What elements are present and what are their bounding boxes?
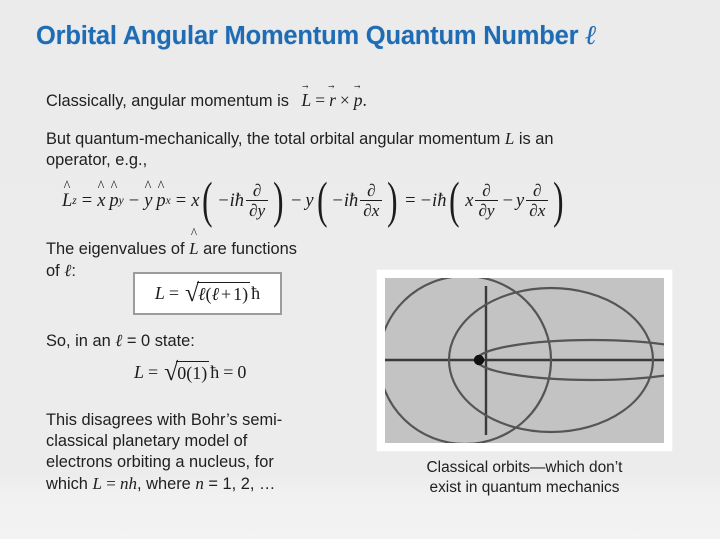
quantum-operator-paragraph: But quantum-mechanically, the total orbi… <box>46 128 676 171</box>
L-hat-inline-symbol: L <box>189 238 198 259</box>
quantum-paragraph-line1: But quantum-mechanically, the total orbi… <box>46 128 676 150</box>
classical-definition-line: Classically, angular momentum is L = r ×… <box>46 90 367 112</box>
L-hat-symbol: L <box>62 191 72 212</box>
bohr-line-2: classical planetary model of <box>46 431 366 452</box>
slide-canvas: Orbital Angular Momentum Quantum Number … <box>0 0 720 539</box>
y-variable-2: y <box>516 191 524 212</box>
L-z-subscript: z <box>72 195 76 207</box>
L-italic-symbol: L <box>505 129 514 148</box>
equals-sign-zero-2: = <box>223 362 233 383</box>
partial-numerator-4: ∂ <box>530 182 545 201</box>
radicand-plus-sign: + <box>221 284 231 304</box>
cross-product-sign: × <box>340 90 350 111</box>
zero-result-value: 0 <box>237 362 246 383</box>
eigenvalues-line1: The eigenvalues of L are functions <box>46 238 346 260</box>
bohr-line-1: This disagrees with Bohr’s semi- <box>46 410 366 431</box>
quantum-paragraph-line2: operator, e.g., <box>46 150 676 171</box>
figure-caption-line-2: exist in quantum mechanics <box>377 478 672 498</box>
minus-i-hbar-3: −iħ <box>420 191 447 212</box>
y-hat-symbol: y <box>144 191 152 212</box>
partial-derivative-y-1: ∂ ∂y <box>246 182 268 220</box>
p-hat-symbol-1: p <box>109 191 118 212</box>
minus-sign-3: − <box>503 191 513 212</box>
L-symbol-zero-state: L <box>134 362 144 383</box>
ell-symbol-radicand-1: ℓ <box>198 284 206 304</box>
equals-sign: = <box>315 90 325 111</box>
eigenvalues-colon: : <box>71 262 76 280</box>
bohr-model-paragraph: This disagrees with Bohr’s semi- classic… <box>46 410 366 495</box>
equals-sign-3: = <box>405 191 415 212</box>
p-hat-symbol-2: p <box>156 191 165 212</box>
right-paren-2: ) <box>388 185 398 216</box>
eigenvalue-formula-box: L = √ ℓ(ℓ+1) ħ <box>133 272 282 315</box>
minus-sign-1: − <box>129 191 139 212</box>
angular-momentum-operator-equation: Lz = x py − y px = x ( −iħ ∂ ∂y ) − y ( … <box>62 182 567 220</box>
page-title: Orbital Angular Momentum Quantum Number … <box>36 20 597 51</box>
eigenvalues-of-text: of <box>46 262 64 280</box>
eigenvalues-text-a: The eigenvalues of <box>46 240 189 258</box>
partial-denominator-4: ∂x <box>526 200 548 220</box>
partial-derivative-x-1: ∂ ∂x <box>360 182 382 220</box>
x-hat-symbol: x <box>97 191 105 212</box>
zero-state-intro-line: So, in an ℓ = 0 state: <box>46 330 195 352</box>
minus-sign-2: − <box>291 191 301 212</box>
equals-sign-1: = <box>82 191 92 212</box>
x-variable-1: x <box>191 191 199 212</box>
bohr-text-c: = 1, 2, … <box>204 475 276 493</box>
bohr-line-3: electrons orbiting a nucleus, for <box>46 452 366 473</box>
partial-denominator-1: ∂y <box>246 200 268 220</box>
square-root-expression: √ ℓ(ℓ+1) <box>185 281 250 306</box>
quantum-text-b: is an <box>514 130 553 148</box>
equals-sign-zero-1: = <box>148 362 158 383</box>
hbar-symbol-boxed: ħ <box>251 283 260 304</box>
partial-derivative-x-2: ∂ ∂x <box>526 182 548 220</box>
partial-numerator-3: ∂ <box>479 182 494 201</box>
partial-denominator-2: ∂x <box>360 200 382 220</box>
classical-orbits-diagram <box>385 278 664 443</box>
square-root-zero-state: √ 0(1) <box>164 360 209 385</box>
left-paren-3: ( <box>450 185 460 216</box>
classical-orbits-figure-frame <box>377 270 672 451</box>
right-paren-3: ) <box>554 185 564 216</box>
quantum-text-a: But quantum-mechanically, the total orbi… <box>46 130 505 148</box>
p-x-subscript: x <box>166 195 171 207</box>
equals-sign-2: = <box>176 191 186 212</box>
classical-angular-momentum-equation: L = r × p . <box>301 90 366 111</box>
zero-state-text-a: So, in an <box>46 332 115 350</box>
nh-symbol: nh <box>120 474 137 493</box>
x-variable-2: x <box>465 191 473 212</box>
bohr-text-b: , where <box>137 475 195 493</box>
y-variable-1: y <box>305 191 313 212</box>
partial-numerator-2: ∂ <box>364 182 379 201</box>
ell-symbol-radicand-2: ℓ <box>212 284 220 304</box>
left-paren-2: ( <box>317 185 327 216</box>
classical-orbits-panel <box>385 278 664 443</box>
equals-sign-boxed: = <box>169 283 179 304</box>
n-symbol: n <box>195 474 204 493</box>
page-title-ell-symbol: ℓ <box>585 20 596 50</box>
L-symbol-bohr: L <box>92 474 101 493</box>
classical-lead-text: Classically, angular momentum is <box>46 92 289 110</box>
zero-state-text-b: = 0 state: <box>122 332 194 350</box>
period-mark: . <box>363 90 367 111</box>
partial-numerator-1: ∂ <box>250 182 265 201</box>
zero-state-formula: L = √ 0(1) ħ = 0 <box>134 360 246 385</box>
bohr-line-4: which L = nh, where n = 1, 2, … <box>46 473 366 495</box>
figure-caption: Classical orbits—which don’t exist in qu… <box>377 458 672 498</box>
bohr-text-a: which <box>46 475 92 493</box>
partial-derivative-y-2: ∂ ∂y <box>475 182 497 220</box>
partial-denominator-3: ∂y <box>475 200 497 220</box>
minus-i-hbar-2: −iħ <box>331 191 358 212</box>
bohr-equals: = <box>102 474 120 493</box>
L-vector-symbol: L <box>301 90 311 111</box>
r-vector-symbol: r <box>329 90 336 111</box>
page-title-text: Orbital Angular Momentum Quantum Number <box>36 22 585 50</box>
eigenvalues-text-b: are functions <box>199 240 297 258</box>
p-y-subscript: y <box>119 195 124 207</box>
radicand-zero: 0(1) <box>176 361 209 386</box>
left-paren-1: ( <box>203 185 213 216</box>
minus-i-hbar-1: −iħ <box>217 191 244 212</box>
radicand-one: 1 <box>233 284 242 304</box>
L-symbol-boxed: L <box>155 283 165 304</box>
hbar-symbol-zero: ħ <box>210 362 219 383</box>
radicand-right-paren: ) <box>242 284 248 304</box>
right-paren-1: ) <box>273 185 283 216</box>
eigenvalue-formula: L = √ ℓ(ℓ+1) ħ <box>155 281 260 306</box>
nucleus-dot <box>474 355 484 365</box>
figure-caption-line-1: Classical orbits—which don’t <box>377 458 672 478</box>
p-vector-symbol: p <box>354 90 363 111</box>
radicand: ℓ(ℓ+1) <box>197 282 250 307</box>
